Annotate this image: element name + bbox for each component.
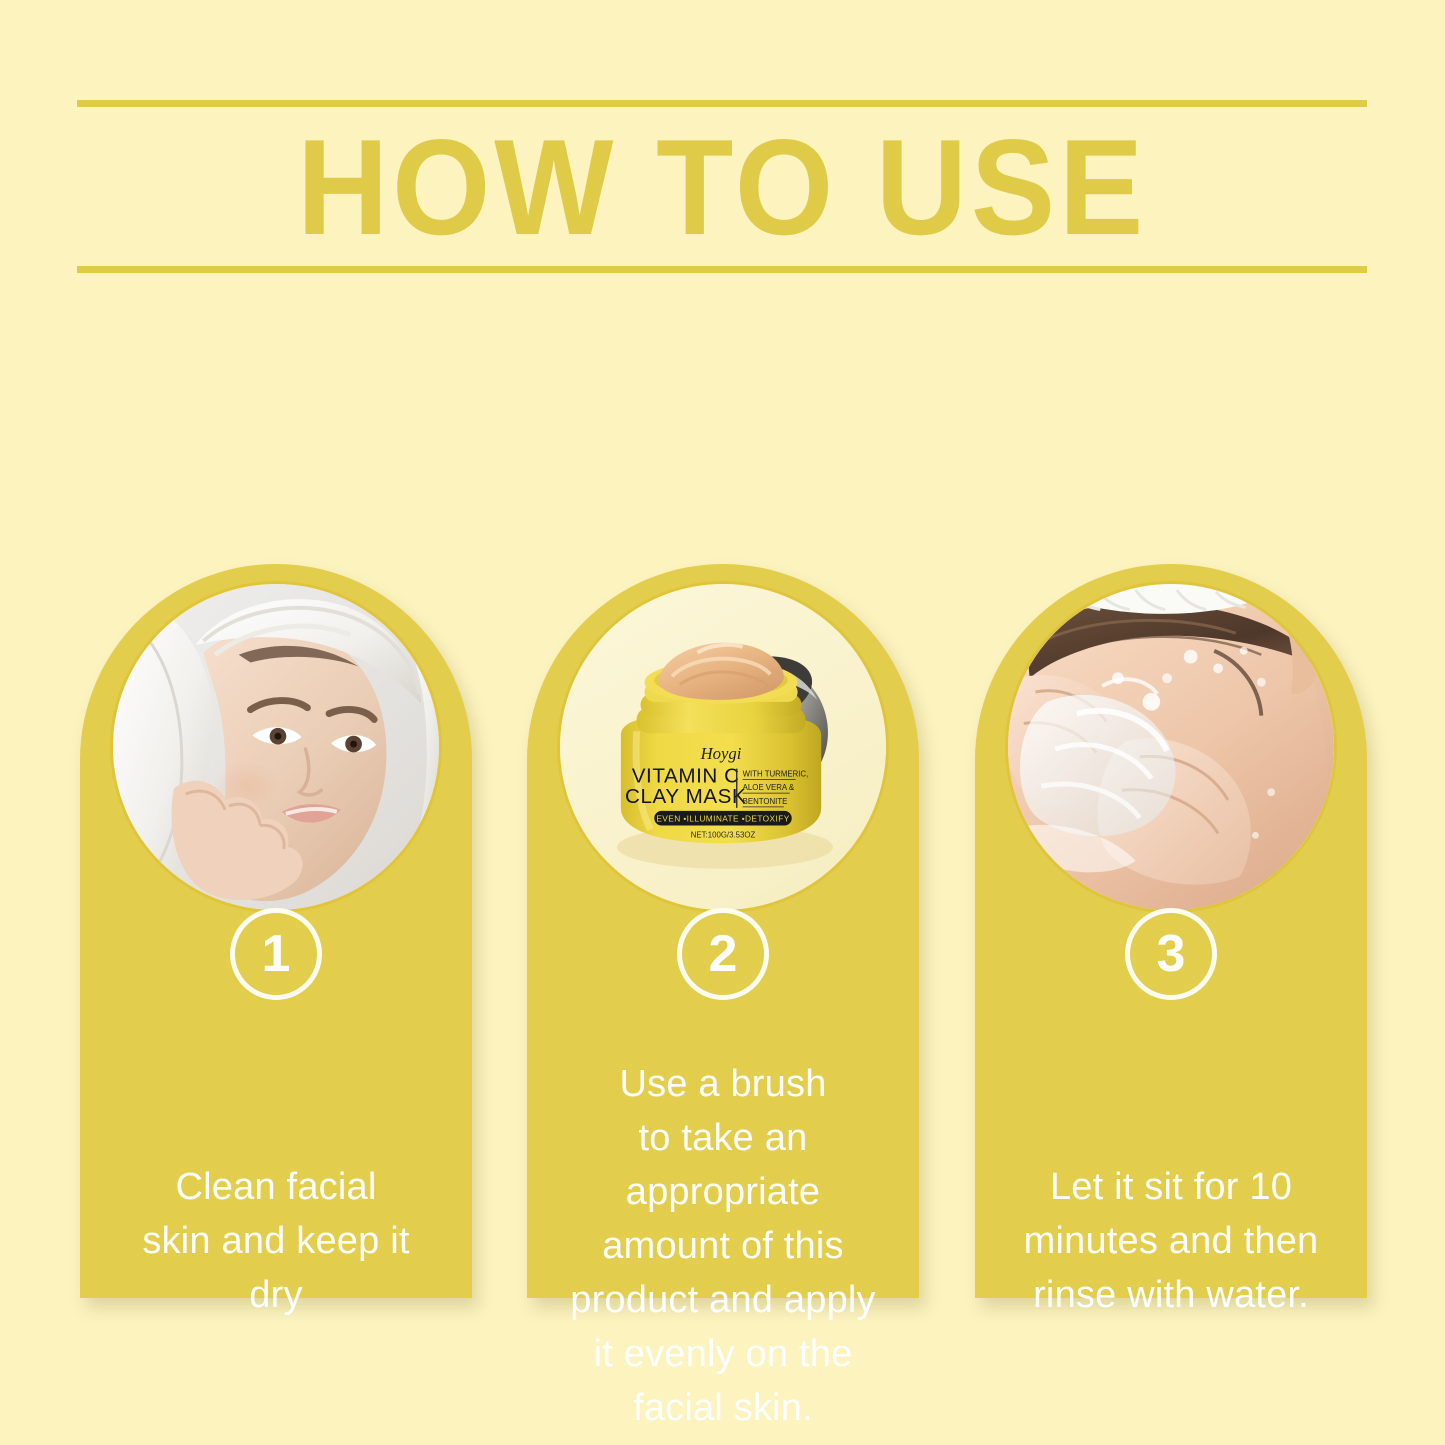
product-ingredients-1: WITH TURMERIC, [743, 769, 809, 778]
step-number-badge-1: 1 [230, 908, 322, 1000]
clay-mask-jar-image: Hoygi VITAMIN C CLAY MASK WITH TURMERIC,… [560, 584, 886, 910]
steps-row: 1 Clean facial skin and keep it dry [0, 380, 1445, 1340]
page-title: HOW TO USE [122, 111, 1322, 263]
product-ingredients-2: ALOE VERA & [743, 783, 795, 792]
step-3-photo [1005, 581, 1337, 913]
step-caption-2: Use a brush to take an appropriate amoun… [553, 1057, 893, 1435]
product-brand: Hoygi [700, 744, 742, 763]
product-net-weight: NET:100G/3.53OZ [691, 830, 756, 839]
step-caption-3: Let it sit for 10 minutes and then rinse… [1001, 1160, 1341, 1322]
woman-with-towel-image [113, 584, 439, 910]
product-name-2: CLAY MASK [625, 785, 746, 808]
step-caption-1: Clean facial skin and keep it dry [106, 1160, 446, 1322]
splashing-water-image [1008, 584, 1334, 910]
step-card-1: 1 Clean facial skin and keep it dry [80, 564, 472, 1298]
step-number-badge-2: 2 [677, 908, 769, 1000]
step-card-2: Hoygi VITAMIN C CLAY MASK WITH TURMERIC,… [527, 564, 919, 1298]
step-1-photo [110, 581, 442, 913]
product-benefits: EVEN •ILLUMINATE •DETOXIFY [656, 814, 789, 824]
page-header: HOW TO USE [77, 100, 1367, 273]
product-name-1: VITAMIN C [632, 764, 740, 787]
step-2-photo: Hoygi VITAMIN C CLAY MASK WITH TURMERIC,… [557, 581, 889, 913]
title-rule-top [77, 100, 1367, 107]
product-ingredients-3: BENTONITE [743, 797, 788, 806]
step-card-3: 3 Let it sit for 10 minutes and then rin… [975, 564, 1367, 1298]
title-rule-bottom [77, 266, 1367, 273]
step-number-badge-3: 3 [1125, 908, 1217, 1000]
